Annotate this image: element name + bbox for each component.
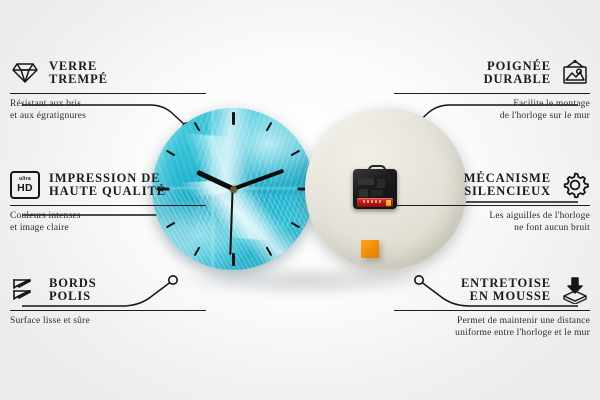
feature-description: Facilite le montage de l'horloge sur le … <box>394 99 590 122</box>
battery-label <box>363 200 381 203</box>
feature-title-line1: VERRE <box>49 59 97 73</box>
feature-description: Les aiguilles de l'horloge ne font aucun… <box>394 211 590 234</box>
feature-title-line1: BORDS <box>49 276 97 290</box>
feature-impression-haute-qualite: ultra HD IMPRESSION DE HAUTE QUALITÉ Cou… <box>10 170 206 234</box>
feature-title-line1: MÉCANISME <box>464 171 551 185</box>
mechanism-detail <box>371 190 383 196</box>
feature-description: Permet de maintenir une distance uniform… <box>394 316 590 339</box>
feature-desc-line2: ne font aucun bruit <box>514 223 590 233</box>
feature-verre-trempe: VERRE TREMPÉ Résistant aux bris et aux é… <box>10 58 206 122</box>
feature-desc-line1: Les aiguilles de l'horloge <box>489 211 590 221</box>
feature-mecanisme-silencieux: MÉCANISME SILENCIEUX Les aiguilles de l'… <box>394 170 590 234</box>
feature-title-line1: ENTRETOISE <box>461 276 551 290</box>
hanging-picture-icon <box>560 58 590 88</box>
feature-desc-line2: et image claire <box>10 223 69 233</box>
mechanism-detail <box>377 179 385 188</box>
feature-description: Couleurs intenses et image claire <box>10 211 206 234</box>
ultra-hd-large-text: HD <box>17 183 33 194</box>
feature-desc-line1: Permet de maintenir une distance <box>457 316 590 326</box>
foam-spacer <box>361 240 379 258</box>
clock-mechanism <box>353 165 397 209</box>
feature-desc-line1: Couleurs intenses <box>10 211 81 221</box>
feature-bords-polis: BORDS POLIS Surface lisse et sûre <box>10 275 206 328</box>
feature-divider <box>10 310 206 311</box>
feature-poignee-durable: POIGNÉE DURABLE Facilite le montage de l… <box>394 58 590 122</box>
feature-title-line2: DURABLE <box>484 72 551 86</box>
ultra-hd-badge: ultra HD <box>10 171 40 199</box>
feature-header: ultra HD IMPRESSION DE HAUTE QUALITÉ <box>10 170 206 200</box>
feature-desc-line1: Résistant aux bris <box>10 99 81 109</box>
feature-title: ENTRETOISE EN MOUSSE <box>461 277 551 304</box>
feature-header: POIGNÉE DURABLE <box>394 58 590 88</box>
feature-title: VERRE TREMPÉ <box>49 60 108 87</box>
gear-icon <box>560 170 590 200</box>
feature-title: IMPRESSION DE HAUTE QUALITÉ <box>49 172 166 199</box>
mechanism-detail <box>358 178 374 185</box>
feature-divider <box>394 205 590 206</box>
feature-header: ENTRETOISE EN MOUSSE <box>394 275 590 305</box>
clock-hour-marker <box>232 253 235 266</box>
feature-desc-line2: uniforme entre l'horloge et le mur <box>455 328 590 338</box>
mechanism-detail <box>359 189 368 197</box>
feature-header: VERRE TREMPÉ <box>10 58 206 88</box>
feature-desc-line1: Surface lisse et sûre <box>10 316 90 326</box>
feature-desc-line1: Facilite le montage <box>513 99 590 109</box>
ultra-hd-icon: ultra HD <box>10 170 40 200</box>
feature-title-line2: HAUTE QUALITÉ <box>49 184 166 198</box>
infographic-canvas: VERRE TREMPÉ Résistant aux bris et aux é… <box>0 0 600 400</box>
feature-description: Surface lisse et sûre <box>10 316 206 328</box>
clock-hour-marker <box>232 112 235 125</box>
aa-battery <box>357 198 393 207</box>
foam-spacer-icon <box>560 275 590 305</box>
feature-header: MÉCANISME SILENCIEUX <box>394 170 590 200</box>
feature-entretoise-en-mousse: ENTRETOISE EN MOUSSE Permet de maintenir… <box>394 275 590 339</box>
feature-title: MÉCANISME SILENCIEUX <box>464 172 551 199</box>
diamond-icon <box>10 58 40 88</box>
feature-title: BORDS POLIS <box>49 277 97 304</box>
feature-title-line1: IMPRESSION DE <box>49 171 160 185</box>
feature-title-line2: SILENCIEUX <box>464 184 551 198</box>
mechanism-body <box>353 169 397 209</box>
polished-edges-icon <box>10 275 40 305</box>
feature-title-line1: POIGNÉE <box>487 59 551 73</box>
feature-title-line2: POLIS <box>49 289 91 303</box>
clock-center-cap <box>230 186 237 193</box>
feature-title-line2: TREMPÉ <box>49 72 108 86</box>
feature-divider <box>394 310 590 311</box>
feature-header: BORDS POLIS <box>10 275 206 305</box>
feature-title: POIGNÉE DURABLE <box>484 60 551 87</box>
feature-desc-line2: de l'horloge sur le mur <box>500 111 590 121</box>
feature-title-line2: EN MOUSSE <box>470 289 551 303</box>
feature-divider <box>10 205 206 206</box>
feature-divider <box>10 93 206 94</box>
feature-desc-line2: et aux égratignures <box>10 111 86 121</box>
feature-divider <box>394 93 590 94</box>
battery-terminal <box>386 200 391 206</box>
feature-description: Résistant aux bris et aux égratignures <box>10 99 206 122</box>
